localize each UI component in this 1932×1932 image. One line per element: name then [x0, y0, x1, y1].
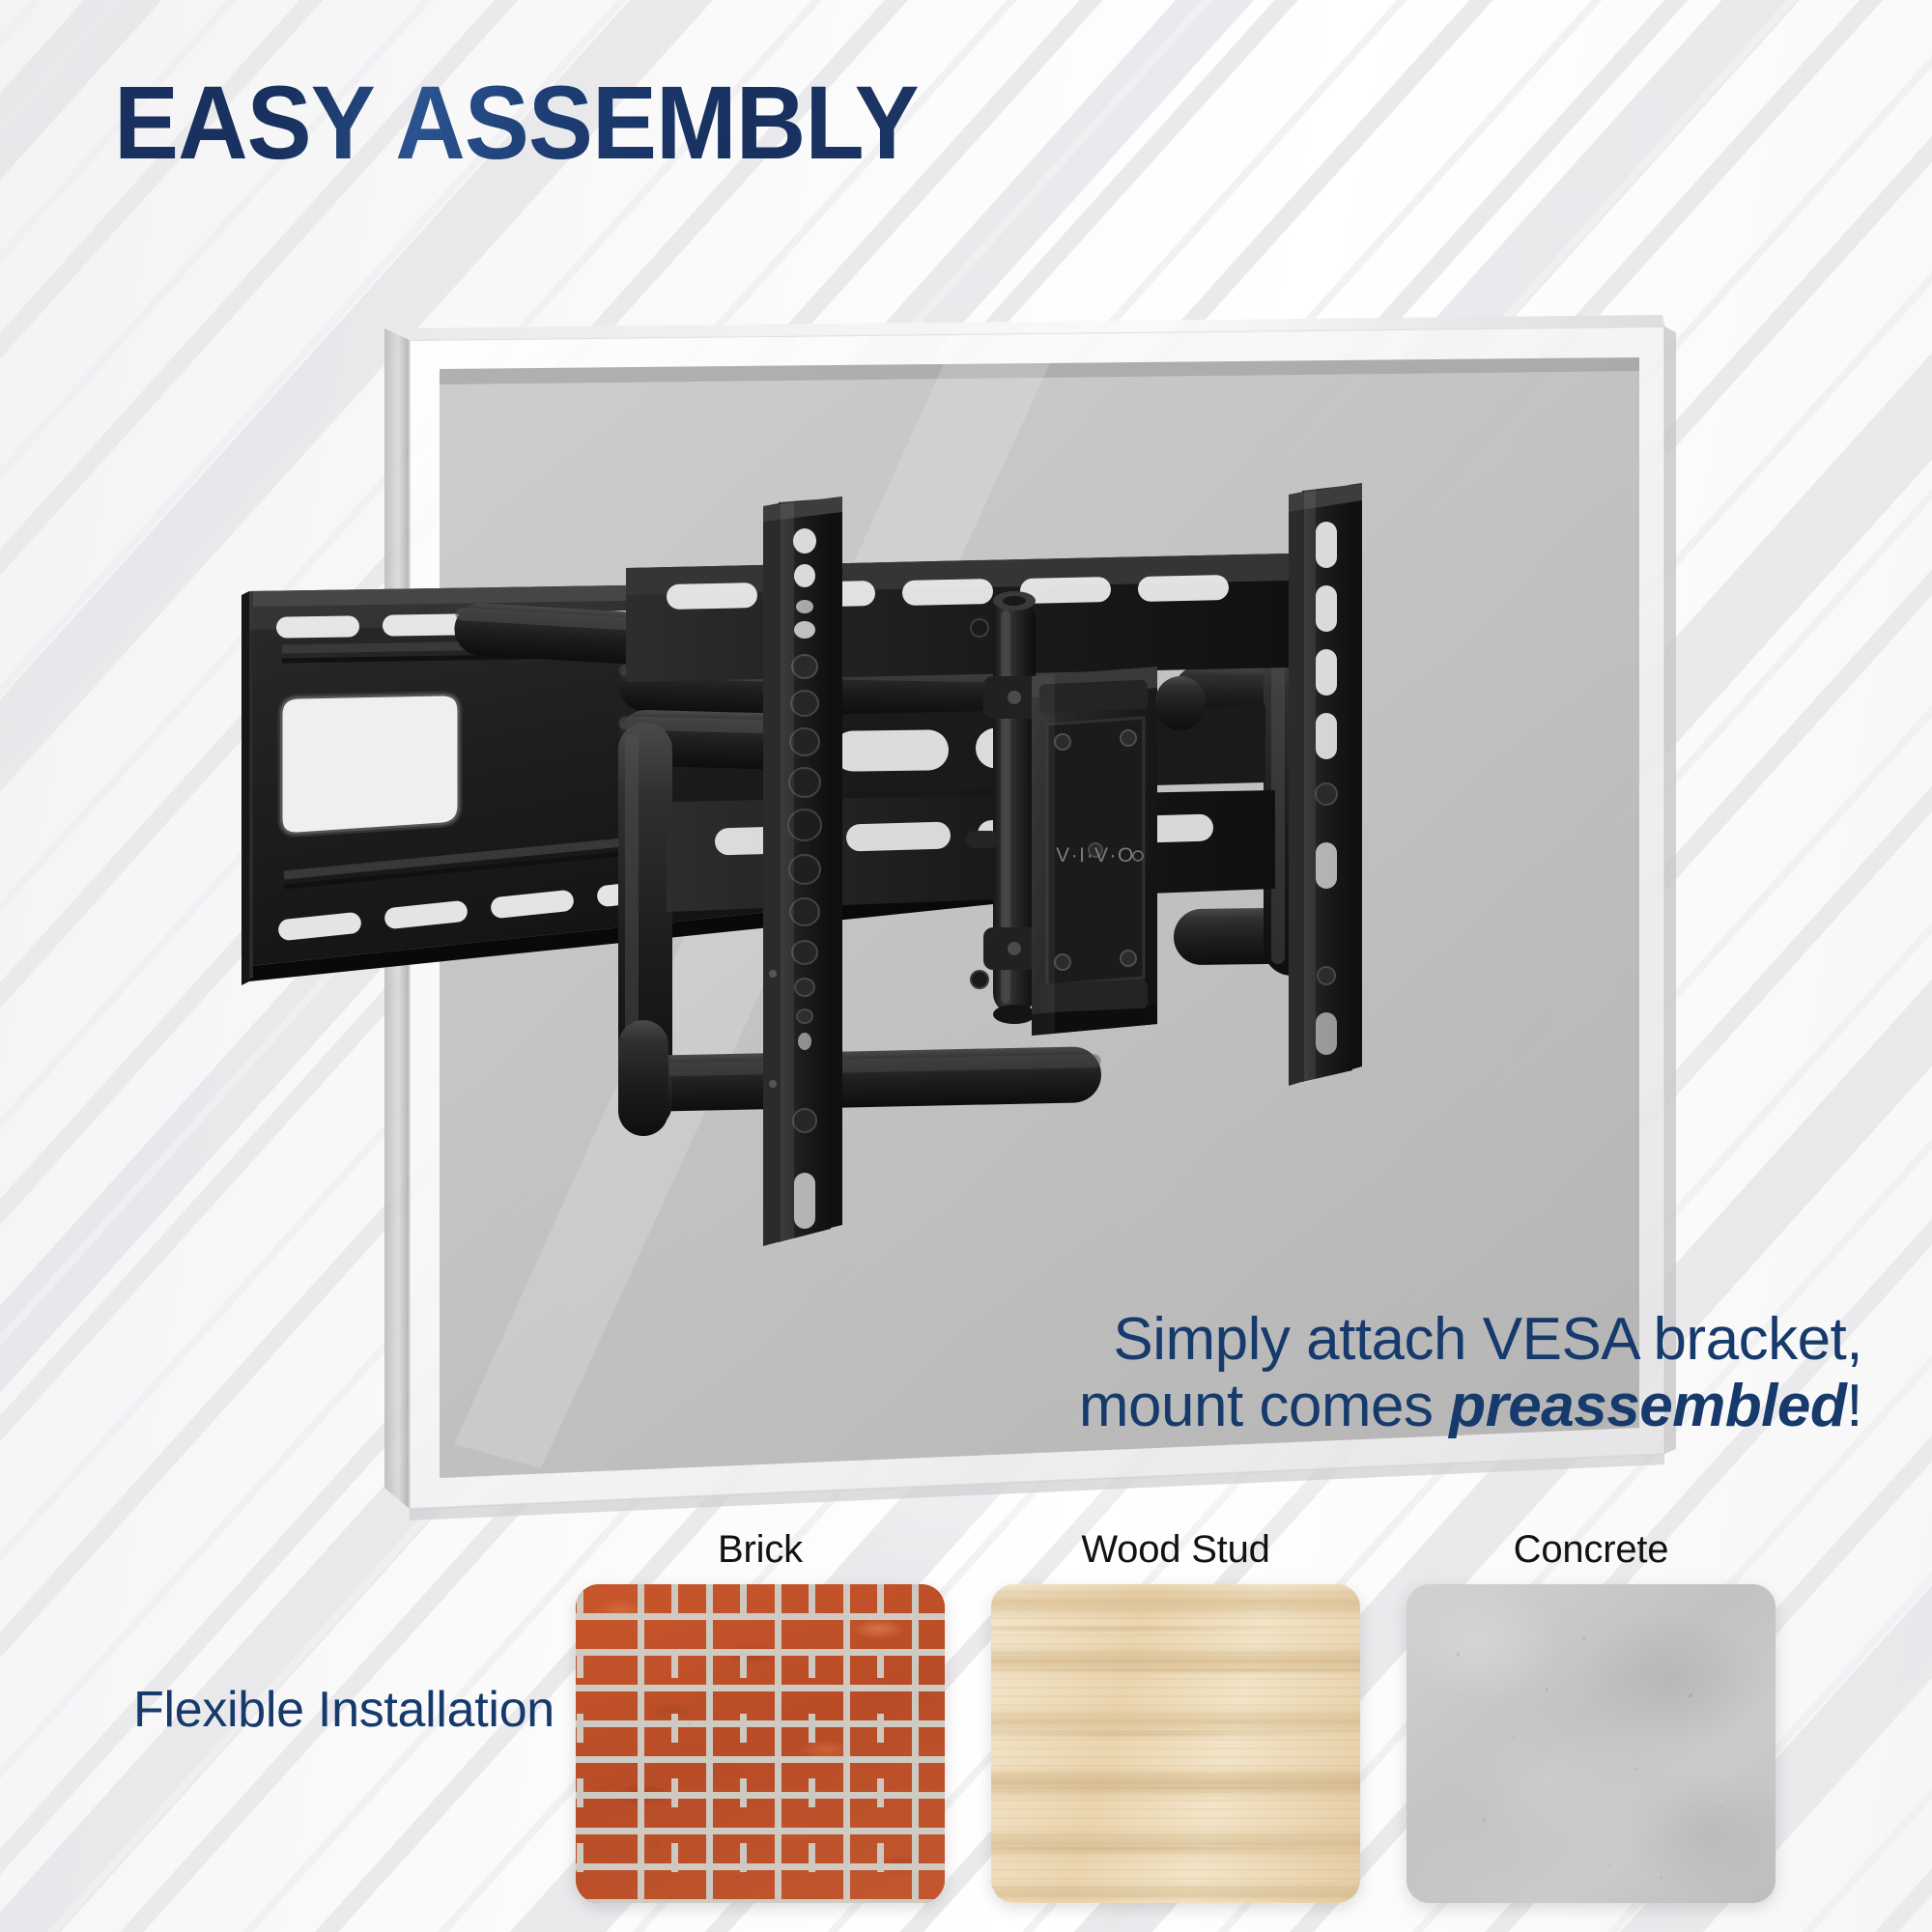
wall-plate-center-cutout	[280, 694, 460, 835]
tagline-emphasis: preassembled	[1449, 1373, 1846, 1439]
material-swatch-row: Brick Wood Stud Concrete	[576, 1534, 1861, 1911]
tilt-head-plate: V·I·V·O	[1032, 667, 1157, 1036]
wood-stud-swatch: Wood Stud	[991, 1584, 1360, 1903]
flexible-installation-label: Flexible Installation	[133, 1681, 554, 1739]
concrete-swatch: Concrete	[1406, 1584, 1776, 1903]
arm-lower-horizontal	[637, 1046, 1101, 1112]
brick-swatch: Brick	[576, 1584, 945, 1903]
product-marketing-image: EASY ASSEMBLY	[0, 0, 1932, 1932]
wood-stud-swatch-label: Wood Stud	[991, 1528, 1360, 1572]
tagline-prefix: mount comes	[1079, 1373, 1449, 1439]
concrete-speckle-overlay	[1406, 1584, 1776, 1903]
concrete-swatch-tile	[1406, 1584, 1776, 1903]
tagline-suffix: !	[1846, 1373, 1862, 1439]
vesa-rail-right	[1289, 483, 1362, 1086]
brick-swatch-tile	[576, 1584, 945, 1903]
vesa-rail-right-holes	[1316, 522, 1337, 1055]
vesa-crossbar-top	[626, 553, 1333, 682]
tagline: Simply attach VESA bracket, mount comes …	[1079, 1306, 1862, 1440]
tagline-line-1: Simply attach VESA bracket,	[1079, 1306, 1862, 1373]
brick-grit-overlay	[576, 1584, 945, 1903]
vesa-rail-left	[763, 497, 842, 1246]
wood-grain-overlay	[991, 1584, 1360, 1903]
vivo-brand-logo: V·I·V·O	[1056, 844, 1135, 867]
wood-stud-swatch-tile	[991, 1584, 1360, 1903]
tagline-line-2: mount comes preassembled!	[1079, 1373, 1862, 1439]
concrete-swatch-label: Concrete	[1406, 1528, 1776, 1572]
vesa-crossbar-bottom	[667, 790, 1275, 912]
brick-swatch-label: Brick	[576, 1528, 945, 1572]
